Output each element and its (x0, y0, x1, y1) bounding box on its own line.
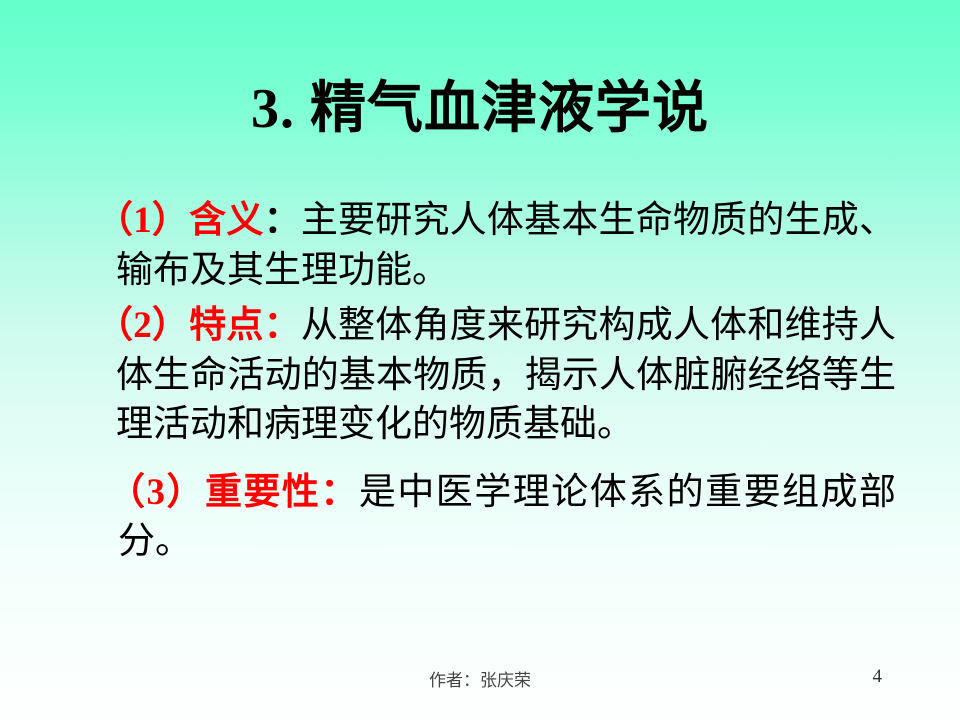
bullet-2-label: 特点 (189, 305, 263, 346)
footer-author: 作者：张庆荣 (0, 666, 960, 691)
page-title: 3. 精气血津液学说 (251, 78, 709, 141)
bullet-item-3: （3）重要性：是中医学理论体系的重要组成部分。 (96, 468, 896, 567)
bullet-item-1: （1）含义：主要研究人体基本生命物质的生成、输布及其生理功能。 (96, 196, 896, 295)
bullet-1-lead-in: （1）含义： (96, 200, 301, 241)
bullet-3-lead-in: （3）重要性： (108, 472, 359, 513)
bullet-3-colon: ： (320, 472, 358, 513)
bullet-2-number: （2） (96, 305, 189, 346)
bullet-1-label: 含义 (189, 200, 263, 241)
bullet-2-colon: ： (264, 305, 301, 346)
footer-page-number: 4 (873, 666, 883, 688)
bullet-1-colon: ： (264, 200, 301, 241)
slide-canvas: 3. 精气血津液学说 （1）含义：主要研究人体基本生命物质的生成、输布及其生理功… (0, 0, 960, 720)
bullet-1-number: （1） (96, 200, 189, 241)
bullet-2-lead-in: （2）特点： (96, 305, 301, 346)
bullet-item-2: （2）特点：从整体角度来研究构成人体和维持人体生命活动的基本物质，揭示人体脏腑经… (96, 301, 896, 450)
body-content: （1）含义：主要研究人体基本生命物质的生成、输布及其生理功能。 （2）特点：从整… (96, 196, 896, 573)
bullet-3-label: 重要性 (205, 472, 320, 513)
title-area: 3. 精气血津液学说 (0, 78, 960, 141)
bullet-3-number: （3） (108, 472, 205, 513)
slide-footer: 作者：张庆荣 4 (0, 666, 960, 694)
